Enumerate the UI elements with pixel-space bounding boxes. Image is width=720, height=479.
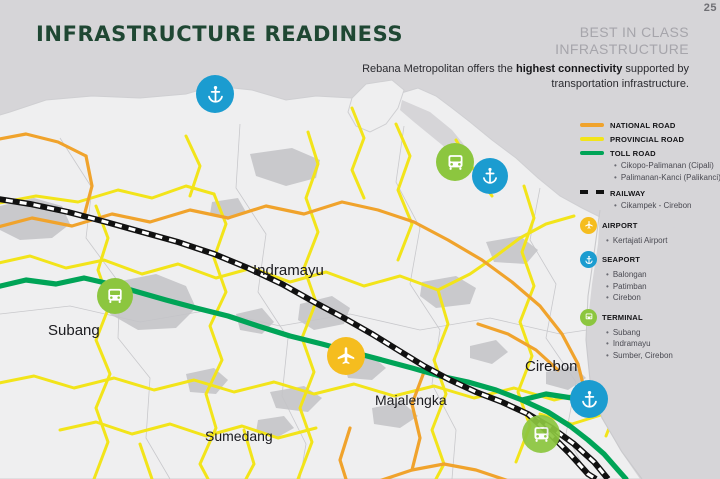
legend-sub-cikampek-cirebon: Cikampek - Cirebon [614,200,720,212]
marker-airport-kertajati[interactable] [327,337,365,375]
legend-sub-subang: Subang [606,327,720,339]
legend-item-toll-road[interactable]: TOLL ROAD Cikopo-Palimanan (Cipali) Pali… [580,148,720,183]
toll-road-swatch [580,151,604,155]
marker-terminal-sumber-cirebon[interactable] [522,415,560,453]
airplane-icon [335,345,357,367]
legend-sub-cipali: Cikopo-Palimanan (Cipali) [614,160,720,172]
kicker-heading: BEST IN CLASS INFRASTRUCTURE [555,24,689,58]
anchor-icon [480,166,500,186]
marker-seaport-balongan[interactable] [472,158,508,194]
legend-label-terminal: TERMINAL [602,309,720,326]
city-label-cirebon: Cirebon [525,358,578,375]
kicker-line-1: BEST IN CLASS [555,24,689,41]
legend-label-toll-road: TOLL ROAD [610,148,720,159]
legend-sub-palikanci: Palimanan-Kanci (Palikanci) [614,172,720,184]
legend-item-provincial-road[interactable]: PROVINCIAL ROAD [580,134,720,145]
railway-swatch [580,190,604,194]
blurb-bold: highest connectivity [516,63,622,75]
slide-canvas: Indramayu Subang Cirebon Majalengka Sume… [0,0,720,479]
airplane-icon [584,220,594,230]
legend-airport-badge [580,217,597,234]
national-road-swatch [580,123,604,127]
provincial-road-swatch [580,137,604,141]
legend-sublist-terminal: Subang Indramayu Sumber, Cirebon [606,327,720,362]
legend-item-seaport[interactable]: SEAPORT Balongan Patimban Cirebon [580,251,720,304]
legend-item-terminal[interactable]: TERMINAL Subang Indramayu Sumber, Cirebo… [580,309,720,362]
city-label-indramayu: Indramayu [253,262,324,279]
legend-label-airport: AIRPORT [602,217,720,234]
legend-sub-sumber-cirebon: Sumber, Cirebon [606,350,720,362]
legend-sub-indramayu: Indramayu [606,338,720,350]
legend-sub-patimban: Patimban [606,281,720,293]
marker-seaport-cirebon[interactable] [570,380,608,418]
bus-icon [531,424,552,445]
map-legend: NATIONAL ROAD PROVINCIAL ROAD TOLL ROAD … [580,120,720,366]
legend-label-seaport: SEAPORT [602,251,720,268]
bus-icon [445,152,466,173]
legend-sublist-toll-road: Cikopo-Palimanan (Cipali) Palimanan-Kanc… [614,160,720,183]
anchor-icon [205,84,226,105]
anchor-icon [584,255,594,265]
bus-icon [105,286,125,306]
city-label-sumedang: Sumedang [205,428,273,444]
legend-seaport-badge [580,251,597,268]
intro-blurb: Rebana Metropolitan offers the highest c… [359,62,689,92]
legend-sublist-railway: Cikampek - Cirebon [614,200,720,212]
marker-terminal-subang[interactable] [97,278,133,314]
legend-sub-balongan: Balongan [606,269,720,281]
legend-item-airport[interactable]: AIRPORT Kertajati Airport [580,217,720,247]
legend-label-national-road: NATIONAL ROAD [610,120,720,131]
legend-terminal-badge [580,309,597,326]
legend-sub-cirebon: Cirebon [606,292,720,304]
kicker-line-2: INFRASTRUCTURE [555,41,689,58]
city-label-majalengka: Majalengka [375,392,447,408]
legend-label-provincial-road: PROVINCIAL ROAD [610,134,720,145]
marker-terminal-indramayu[interactable] [436,143,474,181]
anchor-icon [579,389,600,410]
legend-item-railway[interactable]: RAILWAY Cikampek - Cirebon [580,188,720,212]
city-label-subang: Subang [48,322,100,339]
bus-icon [584,312,594,322]
legend-item-national-road[interactable]: NATIONAL ROAD [580,120,720,131]
marker-seaport-patimban[interactable] [196,75,234,113]
legend-sublist-seaport: Balongan Patimban Cirebon [606,269,720,304]
page-number: 25 [704,2,717,14]
legend-label-railway: RAILWAY [610,188,720,199]
legend-sub-kertajati-airport: Kertajati Airport [606,235,720,247]
legend-sublist-airport: Kertajati Airport [606,235,720,247]
blurb-prefix: Rebana Metropolitan offers the [362,63,516,75]
page-title: INFRASTRUCTURE READINESS [36,22,403,46]
